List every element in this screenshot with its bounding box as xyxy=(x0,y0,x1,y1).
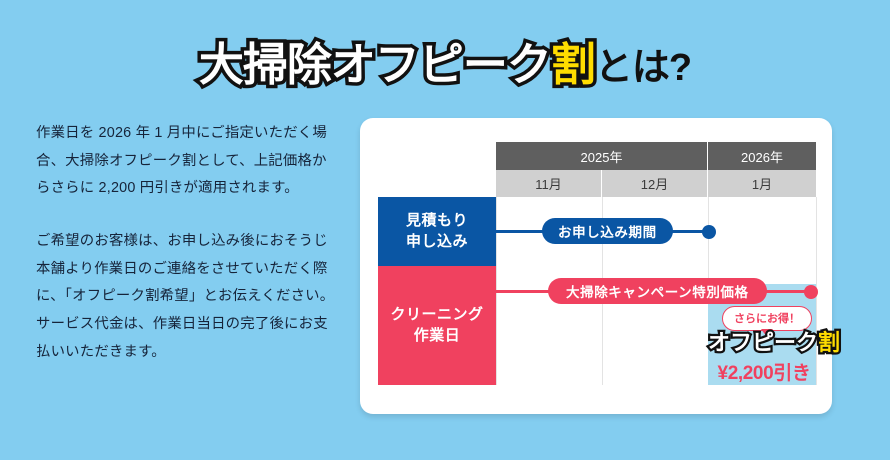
timeline-endcap-estimate xyxy=(702,225,716,239)
row-label-estimate-line2: 申し込み xyxy=(406,233,468,250)
month-header-row: 11月 12月 1月 xyxy=(496,170,816,197)
slide-root: 大掃除オフピーク割とは? 作業日を 2026 年 1 月中にご指定いただく場合、… xyxy=(0,0,890,460)
year-header-row: 2025年 2026年 xyxy=(496,142,816,170)
promo-bubble: さらにお得！ xyxy=(722,306,812,331)
timeline-label-cleaning: 大掃除キャンペーン特別価格 xyxy=(548,278,767,304)
row-label-cleaning-line1: クリーニング xyxy=(390,306,483,323)
promo-price: ¥2,200引き xyxy=(708,358,820,385)
row-label-estimate: 見積もり申し込み xyxy=(378,197,496,266)
row-label-cleaning-text: クリーニング作業日 xyxy=(390,305,483,346)
row-label-estimate-text: 見積もり申し込み xyxy=(406,211,468,252)
row-label-estimate-line1: 見積もり xyxy=(406,212,468,229)
month-header-cell-dec: 12月 xyxy=(602,170,708,197)
timeline-endcap-cleaning xyxy=(804,285,818,299)
timeline-label-estimate: お申し込み期間 xyxy=(542,218,673,244)
promo-headline: オフピーク割 xyxy=(708,332,820,354)
page-title-lead: 大掃除オフピーク xyxy=(199,39,551,90)
schedule-card: 2025年 2026年 11月 12月 1月 見積もり申し込み クリーニング作業… xyxy=(360,118,832,414)
body-paragraph-2: ご希望のお客様は、お申し込み後におそうじ本舗より作業日のご連絡をさせていただく際… xyxy=(36,228,336,366)
body-paragraph-1: 作業日を 2026 年 1 月中にご指定いただく場合、大掃除オフピーク割として、… xyxy=(36,120,336,203)
row-label-cleaning: クリーニング作業日 xyxy=(378,266,496,385)
row-label-cleaning-line2: 作業日 xyxy=(414,327,461,344)
page-title-highlight: 割 xyxy=(551,39,595,90)
page-title-text: 大掃除オフピーク割とは? xyxy=(199,42,691,87)
month-header-cell-jan: 1月 xyxy=(708,170,816,197)
body-copy: 作業日を 2026 年 1 月中にご指定いただく場合、大掃除オフピーク割として、… xyxy=(36,120,336,366)
month-header-cell-nov: 11月 xyxy=(496,170,602,197)
page-title-tail: とは? xyxy=(595,47,691,89)
year-header-cell-2025: 2025年 xyxy=(496,142,708,170)
year-header-cell-2026: 2026年 xyxy=(708,142,816,170)
page-title: 大掃除オフピーク割とは? xyxy=(0,42,890,87)
promo-headline-highlight: 割 xyxy=(818,330,840,355)
promo-headline-lead: オフピーク xyxy=(708,330,818,355)
